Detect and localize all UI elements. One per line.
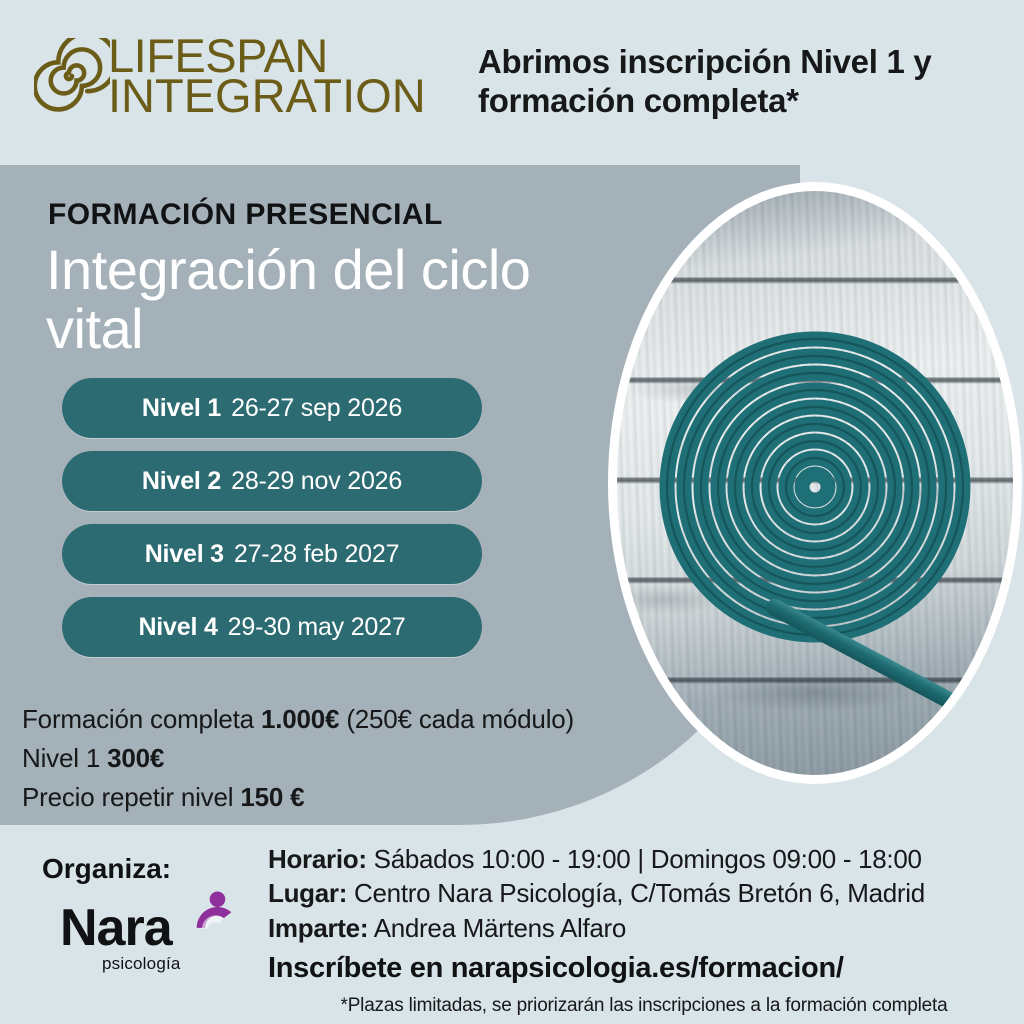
detail-row-imparte: Imparte: Andrea Märtens Alfaro: [268, 911, 1024, 945]
detail-row-lugar: Lugar: Centro Nara Psicología, C/Tomás B…: [268, 876, 1024, 910]
level-dates: 27-28 feb 2027: [234, 540, 399, 569]
pricing-note: (250€ cada módulo): [346, 704, 574, 734]
detail-label: Horario:: [268, 844, 367, 874]
coiled-rope-icon: [659, 331, 971, 643]
kicker-label: FORMACIÓN PRESENCIAL: [48, 198, 443, 232]
detail-label: Lugar:: [268, 878, 347, 908]
rope-photo: [608, 182, 1022, 784]
swirl-icon: [188, 888, 240, 940]
pricing-label: Precio repetir nivel: [22, 782, 233, 812]
header: LIFESPAN INTEGRATION Abrimos inscripción…: [0, 0, 1024, 165]
level-pill[interactable]: Nivel 2 28-29 nov 2026: [62, 451, 482, 511]
detail-row-horario: Horario: Sábados 10:00 - 19:00 | Domingo…: [268, 842, 1024, 876]
nara-wordmark: Nara: [60, 898, 172, 958]
pricing-label: Formación completa: [22, 704, 254, 734]
page-title: Integración del ciclo vital: [46, 240, 566, 359]
nara-psicologia-logo: Nara psicología: [60, 898, 250, 993]
pricing-row: Formación completa 1.000€ (250€ cada mód…: [22, 700, 662, 739]
pricing-row: Precio repetir nivel 150 €: [22, 778, 662, 817]
detail-label: Imparte:: [268, 913, 368, 943]
logo-line-2: INTEGRATION: [108, 76, 426, 116]
pricing-row: Nivel 1 300€: [22, 739, 662, 778]
lifespan-integration-logo: LIFESPAN INTEGRATION: [34, 36, 426, 117]
levels-list: Nivel 1 26-27 sep 2026 Nivel 2 28-29 nov…: [62, 378, 482, 670]
nara-tagline: psicología: [102, 954, 181, 974]
level-dates: 28-29 nov 2026: [231, 467, 402, 496]
level-name: Nivel 3: [145, 540, 224, 569]
pricing-value: 300€: [107, 743, 164, 773]
poster-canvas: LIFESPAN INTEGRATION Abrimos inscripción…: [0, 0, 1024, 1024]
spiral-icon: [34, 38, 110, 114]
level-dates: 29-30 may 2027: [228, 613, 406, 642]
disclaimer-note: *Plazas limitadas, se priorizarán las in…: [268, 995, 1020, 1017]
header-claim: Abrimos inscripción Nivel 1 y formación …: [478, 43, 1008, 121]
pricing-value: 150 €: [240, 782, 304, 812]
pricing-block: Formación completa 1.000€ (250€ cada mód…: [22, 700, 662, 817]
level-name: Nivel 1: [142, 394, 221, 423]
level-pill[interactable]: Nivel 3 27-28 feb 2027: [62, 524, 482, 584]
signup-cta[interactable]: Inscríbete en narapsicologia.es/formacio…: [268, 952, 844, 985]
level-dates: 26-27 sep 2026: [231, 394, 402, 423]
rope-photo-inner: [617, 191, 1013, 775]
detail-value: Centro Nara Psicología, C/Tomás Bretón 6…: [354, 878, 925, 908]
detail-value: Sábados 10:00 - 19:00 | Domingos 09:00 -…: [374, 844, 922, 874]
level-name: Nivel 2: [142, 467, 221, 496]
level-pill[interactable]: Nivel 4 29-30 may 2027: [62, 597, 482, 657]
details-block: Horario: Sábados 10:00 - 19:00 | Domingo…: [268, 842, 1024, 945]
detail-value: Andrea Märtens Alfaro: [374, 913, 626, 943]
level-name: Nivel 4: [138, 613, 217, 642]
organiza-label: Organiza:: [42, 853, 171, 885]
logo-wordmark: LIFESPAN INTEGRATION: [108, 36, 426, 117]
level-pill[interactable]: Nivel 1 26-27 sep 2026: [62, 378, 482, 438]
pricing-value: 1.000€: [261, 704, 339, 734]
pricing-label: Nivel 1: [22, 743, 100, 773]
